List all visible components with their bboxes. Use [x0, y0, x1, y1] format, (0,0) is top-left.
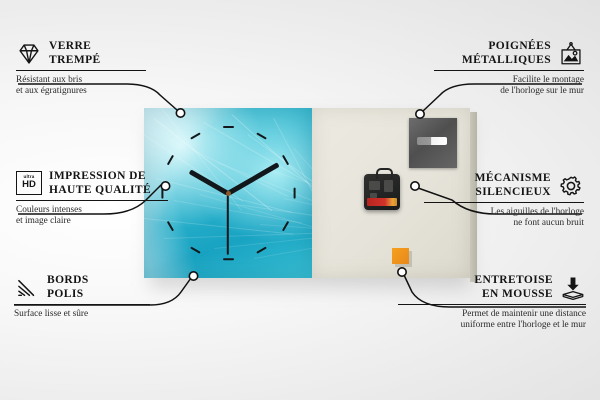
clock-tick: [167, 155, 174, 166]
gear-icon: [558, 173, 584, 199]
callout-desc-line2: et aux égratignures: [16, 86, 166, 97]
callout-header: BORDS POLIS: [14, 274, 164, 301]
callout-header: ultra HD IMPRESSION DE HAUTE QUALITÉ: [16, 170, 186, 197]
callout-desc-line1: Permet de maintenir une distance: [398, 309, 586, 320]
mechanism-detail: [369, 181, 380, 190]
second-hand: [227, 193, 229, 255]
callout-desc-line1: Résistant aux bris: [16, 75, 166, 86]
callout-title: BORDS POLIS: [47, 274, 89, 301]
clock-tick: [190, 132, 201, 139]
clock-tick: [190, 246, 201, 253]
callout-verre-trempe[interactable]: VERRE TREMPÉ Résistant aux bris et aux é…: [16, 40, 166, 97]
polished-edges-icon: [14, 275, 40, 301]
callout-poignees-metalliques[interactable]: POIGNÉES MÉTALLIQUES Facilite le montage…: [434, 40, 584, 97]
callout-header: VERRE TREMPÉ: [16, 40, 166, 67]
callout-impression-haute-qualite[interactable]: ultra HD IMPRESSION DE HAUTE QUALITÉ Cou…: [16, 170, 186, 227]
clock-tick: [223, 258, 234, 260]
callout-title: VERRE TREMPÉ: [49, 40, 101, 67]
clock-tick: [256, 246, 267, 253]
hanger-slot: [417, 137, 447, 145]
callout-desc-line1: Facilite le montage: [434, 75, 584, 86]
callout-entretoise-en-mousse[interactable]: ENTRETOISE EN MOUSSE Permet de maintenir…: [398, 274, 586, 331]
battery: [367, 198, 397, 206]
callout-desc-line2: de l'horloge sur le mur: [434, 86, 584, 97]
callout-desc-line1: Surface lisse et sûre: [14, 309, 164, 320]
clock-center-pin: [226, 191, 231, 196]
ultra-hd-icon-main: HD: [22, 180, 36, 190]
divider: [16, 70, 146, 71]
divider: [434, 70, 584, 71]
quartz-mechanism: [364, 174, 400, 210]
divider: [398, 304, 586, 305]
mechanism-detail: [384, 180, 393, 192]
callout-title: MÉCANISME SILENCIEUX: [475, 172, 551, 199]
foam-spacer-icon: [560, 275, 586, 301]
callout-header: POIGNÉES MÉTALLIQUES: [434, 40, 584, 67]
infographic-canvas: VERRE TREMPÉ Résistant aux bris et aux é…: [0, 0, 600, 400]
callout-title: IMPRESSION DE HAUTE QUALITÉ: [49, 170, 151, 197]
callout-desc-line2: ne font aucun bruit: [424, 218, 584, 229]
callout-header: MÉCANISME SILENCIEUX: [424, 172, 584, 199]
ultra-hd-icon: ultra HD: [16, 171, 42, 197]
callout-desc-line2: et image claire: [16, 216, 186, 227]
callout-header: ENTRETOISE EN MOUSSE: [398, 274, 586, 301]
callout-title: POIGNÉES MÉTALLIQUES: [462, 40, 551, 67]
minute-hand: [227, 162, 279, 195]
clock-tick: [293, 188, 295, 199]
divider: [424, 202, 584, 203]
callout-desc-line1: Couleurs intenses: [16, 205, 186, 216]
callout-bords-polis[interactable]: BORDS POLIS Surface lisse et sûre: [14, 274, 164, 320]
divider: [16, 200, 168, 201]
foam-spacer: [392, 248, 409, 264]
callout-title: ENTRETOISE EN MOUSSE: [474, 274, 553, 301]
callout-desc-line1: Les aiguilles de l'horloge: [424, 207, 584, 218]
diamond-icon: [16, 41, 42, 67]
clock-tick: [223, 126, 234, 128]
picture-hanger-icon: [558, 41, 584, 67]
metal-hanger-plate: [409, 118, 457, 168]
callout-mecanisme-silencieux[interactable]: MÉCANISME SILENCIEUX Les aiguilles de l'…: [424, 172, 584, 229]
callout-desc-line2: uniforme entre l'horloge et le mur: [398, 320, 586, 331]
divider: [14, 304, 150, 305]
mechanism-hook: [376, 168, 393, 179]
